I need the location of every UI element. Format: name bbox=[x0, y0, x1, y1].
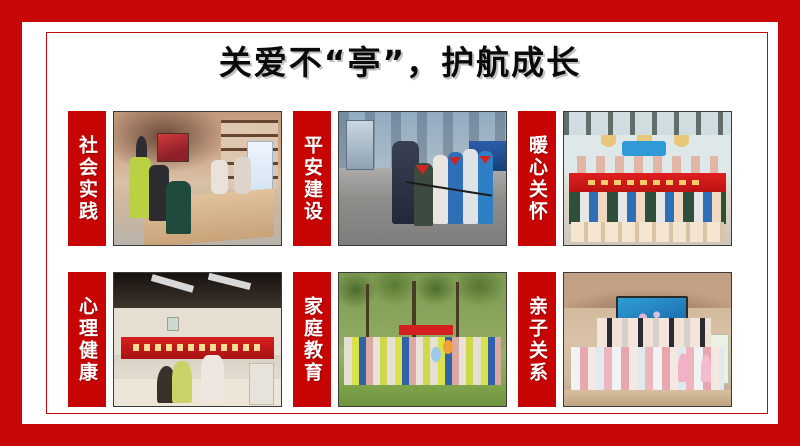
card-label-parent-child-relationship: 亲子关系 bbox=[526, 296, 548, 384]
photo-shape-wall-sign bbox=[622, 141, 665, 156]
photo-shape-paper-flower-a bbox=[678, 353, 688, 382]
photo-illustration-mental-health bbox=[114, 273, 281, 406]
photo-illustration-social-practice bbox=[114, 112, 281, 245]
card-mental-health[interactable]: 心理健康 bbox=[68, 272, 282, 407]
photo-shape-red-outdoor-banner bbox=[399, 325, 452, 336]
card-warm-care[interactable]: 暖心关怀 bbox=[518, 111, 732, 246]
card-label-warm-care: 暖心关怀 bbox=[526, 135, 548, 223]
photo-illustration-family-education bbox=[339, 273, 506, 406]
photo-shape-display-screen bbox=[157, 133, 189, 162]
photo-shape-gift-boxes bbox=[571, 222, 725, 242]
photo-shape-red-event-banner bbox=[569, 173, 726, 193]
card-photo-mental-health bbox=[113, 272, 282, 407]
photo-illustration-safety-construction bbox=[339, 112, 506, 245]
photo-shape-entrance-door bbox=[346, 120, 375, 170]
card-banner-social-practice: 社会实践 bbox=[68, 111, 106, 246]
photo-shape-paper-flower-b bbox=[701, 355, 711, 382]
photo-shape-group-crowd bbox=[344, 337, 501, 385]
photo-shape-seated-person-a bbox=[211, 160, 228, 195]
card-label-family-education: 家庭教育 bbox=[301, 296, 323, 384]
photo-shape-volunteer-vest bbox=[129, 157, 151, 218]
photo-shape-front-desk bbox=[564, 390, 731, 406]
photo-shape-balloon-blue bbox=[431, 347, 441, 362]
slide-root: 关爱不“亭”，护航成长 社会实践 bbox=[0, 0, 800, 446]
photo-shape-dark-ceiling bbox=[114, 273, 281, 308]
card-banner-mental-health: 心理健康 bbox=[68, 272, 106, 407]
card-banner-parent-child-relationship: 亲子关系 bbox=[518, 272, 556, 407]
photo-shape-children-row bbox=[569, 192, 726, 224]
card-label-safety-construction: 平安建设 bbox=[301, 135, 323, 223]
photo-shape-chair bbox=[249, 363, 274, 405]
photo-illustration-parent-child-relationship bbox=[564, 273, 731, 406]
card-banner-safety-construction: 平安建设 bbox=[293, 111, 331, 246]
photo-shape-seated-person-b bbox=[234, 157, 251, 194]
card-parent-child-relationship[interactable]: 亲子关系 bbox=[518, 272, 732, 407]
card-family-education[interactable]: 家庭教育 bbox=[293, 272, 507, 407]
photo-shape-exit-sign bbox=[167, 317, 179, 331]
photo-shape-balloon-orange bbox=[443, 340, 453, 355]
card-photo-parent-child-relationship bbox=[563, 272, 732, 407]
cards-grid: 社会实践 平安建设 bbox=[68, 111, 732, 407]
photo-shape-child-c bbox=[463, 149, 478, 223]
card-label-mental-health: 心理健康 bbox=[76, 296, 98, 384]
photo-illustration-warm-care bbox=[564, 112, 731, 245]
photo-shape-student-green-coat bbox=[166, 181, 191, 234]
card-banner-family-education: 家庭教育 bbox=[293, 272, 331, 407]
card-photo-warm-care bbox=[563, 111, 732, 246]
photo-shape-seated-child-b bbox=[172, 361, 192, 404]
page-title: 关爱不“亭”，护航成长 bbox=[0, 36, 800, 84]
photo-shape-red-course-banner bbox=[121, 337, 275, 360]
card-label-social-practice: 社会实践 bbox=[76, 135, 98, 223]
card-social-practice[interactable]: 社会实践 bbox=[68, 111, 282, 246]
photo-shape-pendant-lamp-a bbox=[601, 135, 616, 147]
photo-shape-ceiling-beams bbox=[564, 112, 731, 135]
card-photo-safety-construction bbox=[338, 111, 507, 246]
card-banner-warm-care: 暖心关怀 bbox=[518, 111, 556, 246]
photo-shape-seated-adult bbox=[201, 355, 224, 403]
card-safety-construction[interactable]: 平安建设 bbox=[293, 111, 507, 246]
card-photo-family-education bbox=[338, 272, 507, 407]
card-photo-social-practice bbox=[113, 111, 282, 246]
photo-shape-pendant-lamp-c bbox=[674, 135, 689, 147]
